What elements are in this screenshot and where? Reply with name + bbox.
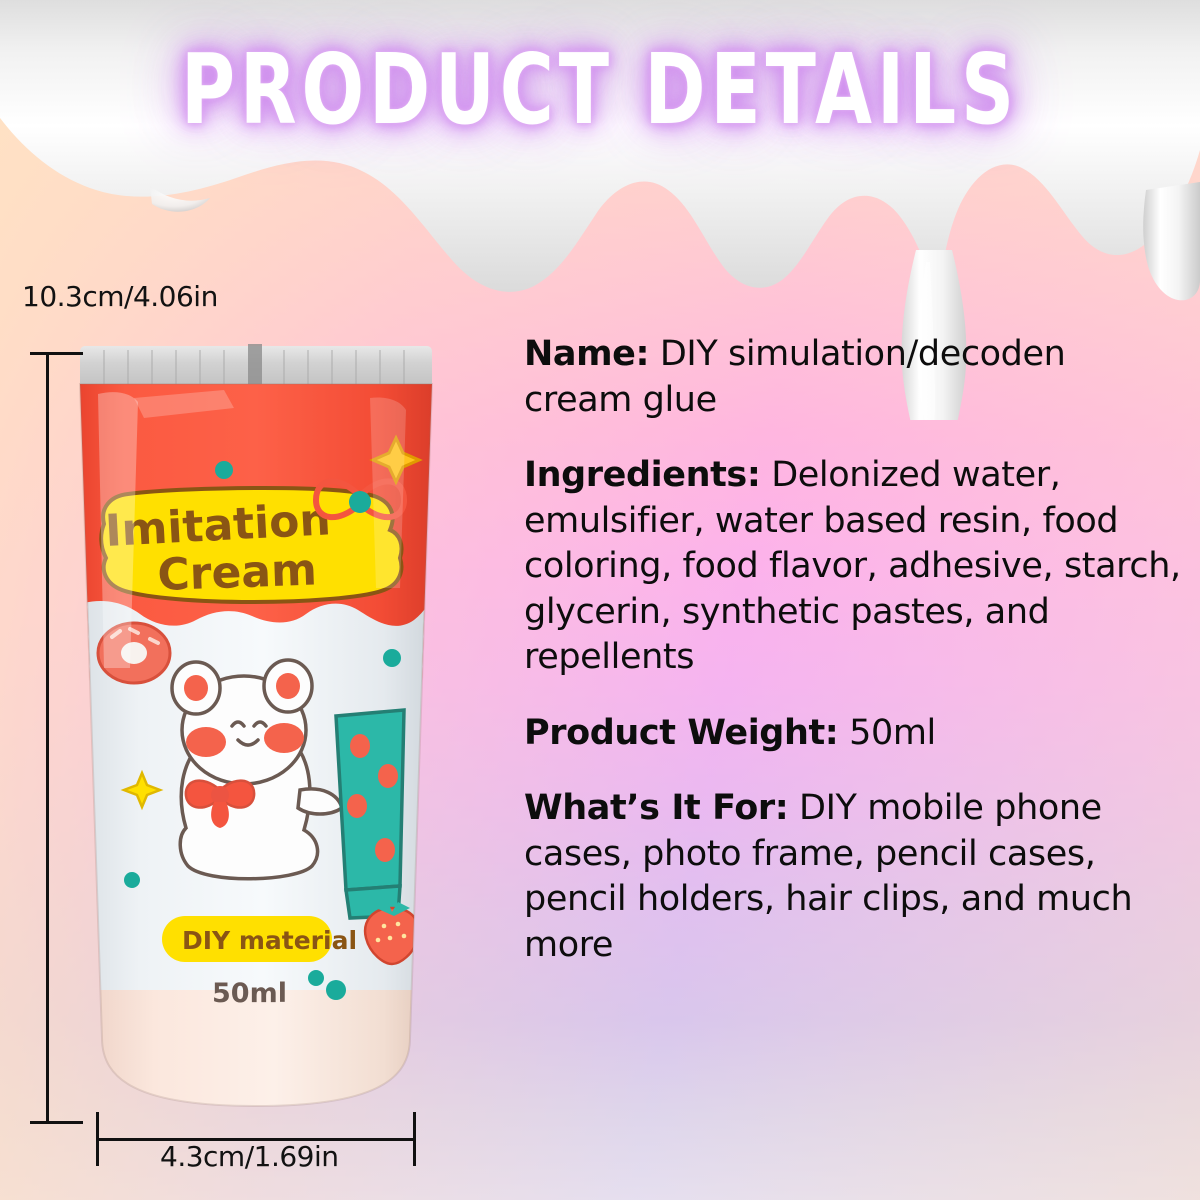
detail-ingredients-label: Ingredients: xyxy=(524,455,760,495)
height-dimension-label: 10.3cm/4.06in xyxy=(22,280,218,313)
detail-whats-it-for-label: What’s It For: xyxy=(524,788,788,828)
height-measure-cap-bottom xyxy=(30,1121,83,1124)
detail-whats-it-for: What’s It For: DIY mobile phone cases, p… xyxy=(524,786,1184,968)
detail-name: Name: DIY simulation/decoden cream glue xyxy=(524,332,1184,423)
width-measure-cap-right xyxy=(413,1112,416,1166)
page-title: PRODUCT DETAILS xyxy=(18,32,1182,146)
svg-text:Cream: Cream xyxy=(157,544,318,601)
svg-text:DIY material: DIY material xyxy=(182,926,357,955)
product-details-list: Name: DIY simulation/decoden cream glue … xyxy=(524,332,1184,968)
svg-text:50ml: 50ml xyxy=(212,978,287,1009)
detail-product-weight: Product Weight: 50ml xyxy=(524,711,1184,757)
width-measure-cap-left xyxy=(96,1112,99,1166)
width-dimension-label: 4.3cm/1.69in xyxy=(160,1140,339,1173)
height-measure-cap-top xyxy=(30,352,83,355)
width-measure-line xyxy=(96,1138,416,1141)
product-details-page: PRODUCT DETAILS 10.3cm/4.06in 4.3cm/1.69… xyxy=(0,0,1200,1200)
detail-name-label: Name: xyxy=(524,334,649,374)
detail-product-weight-label: Product Weight: xyxy=(524,713,838,753)
product-tube-image: Imitation Cream xyxy=(74,338,438,1120)
detail-ingredients: Ingredients: Delonized water, emulsifier… xyxy=(524,453,1184,681)
height-measure-line xyxy=(46,352,49,1124)
detail-product-weight-value: 50ml xyxy=(838,713,935,753)
